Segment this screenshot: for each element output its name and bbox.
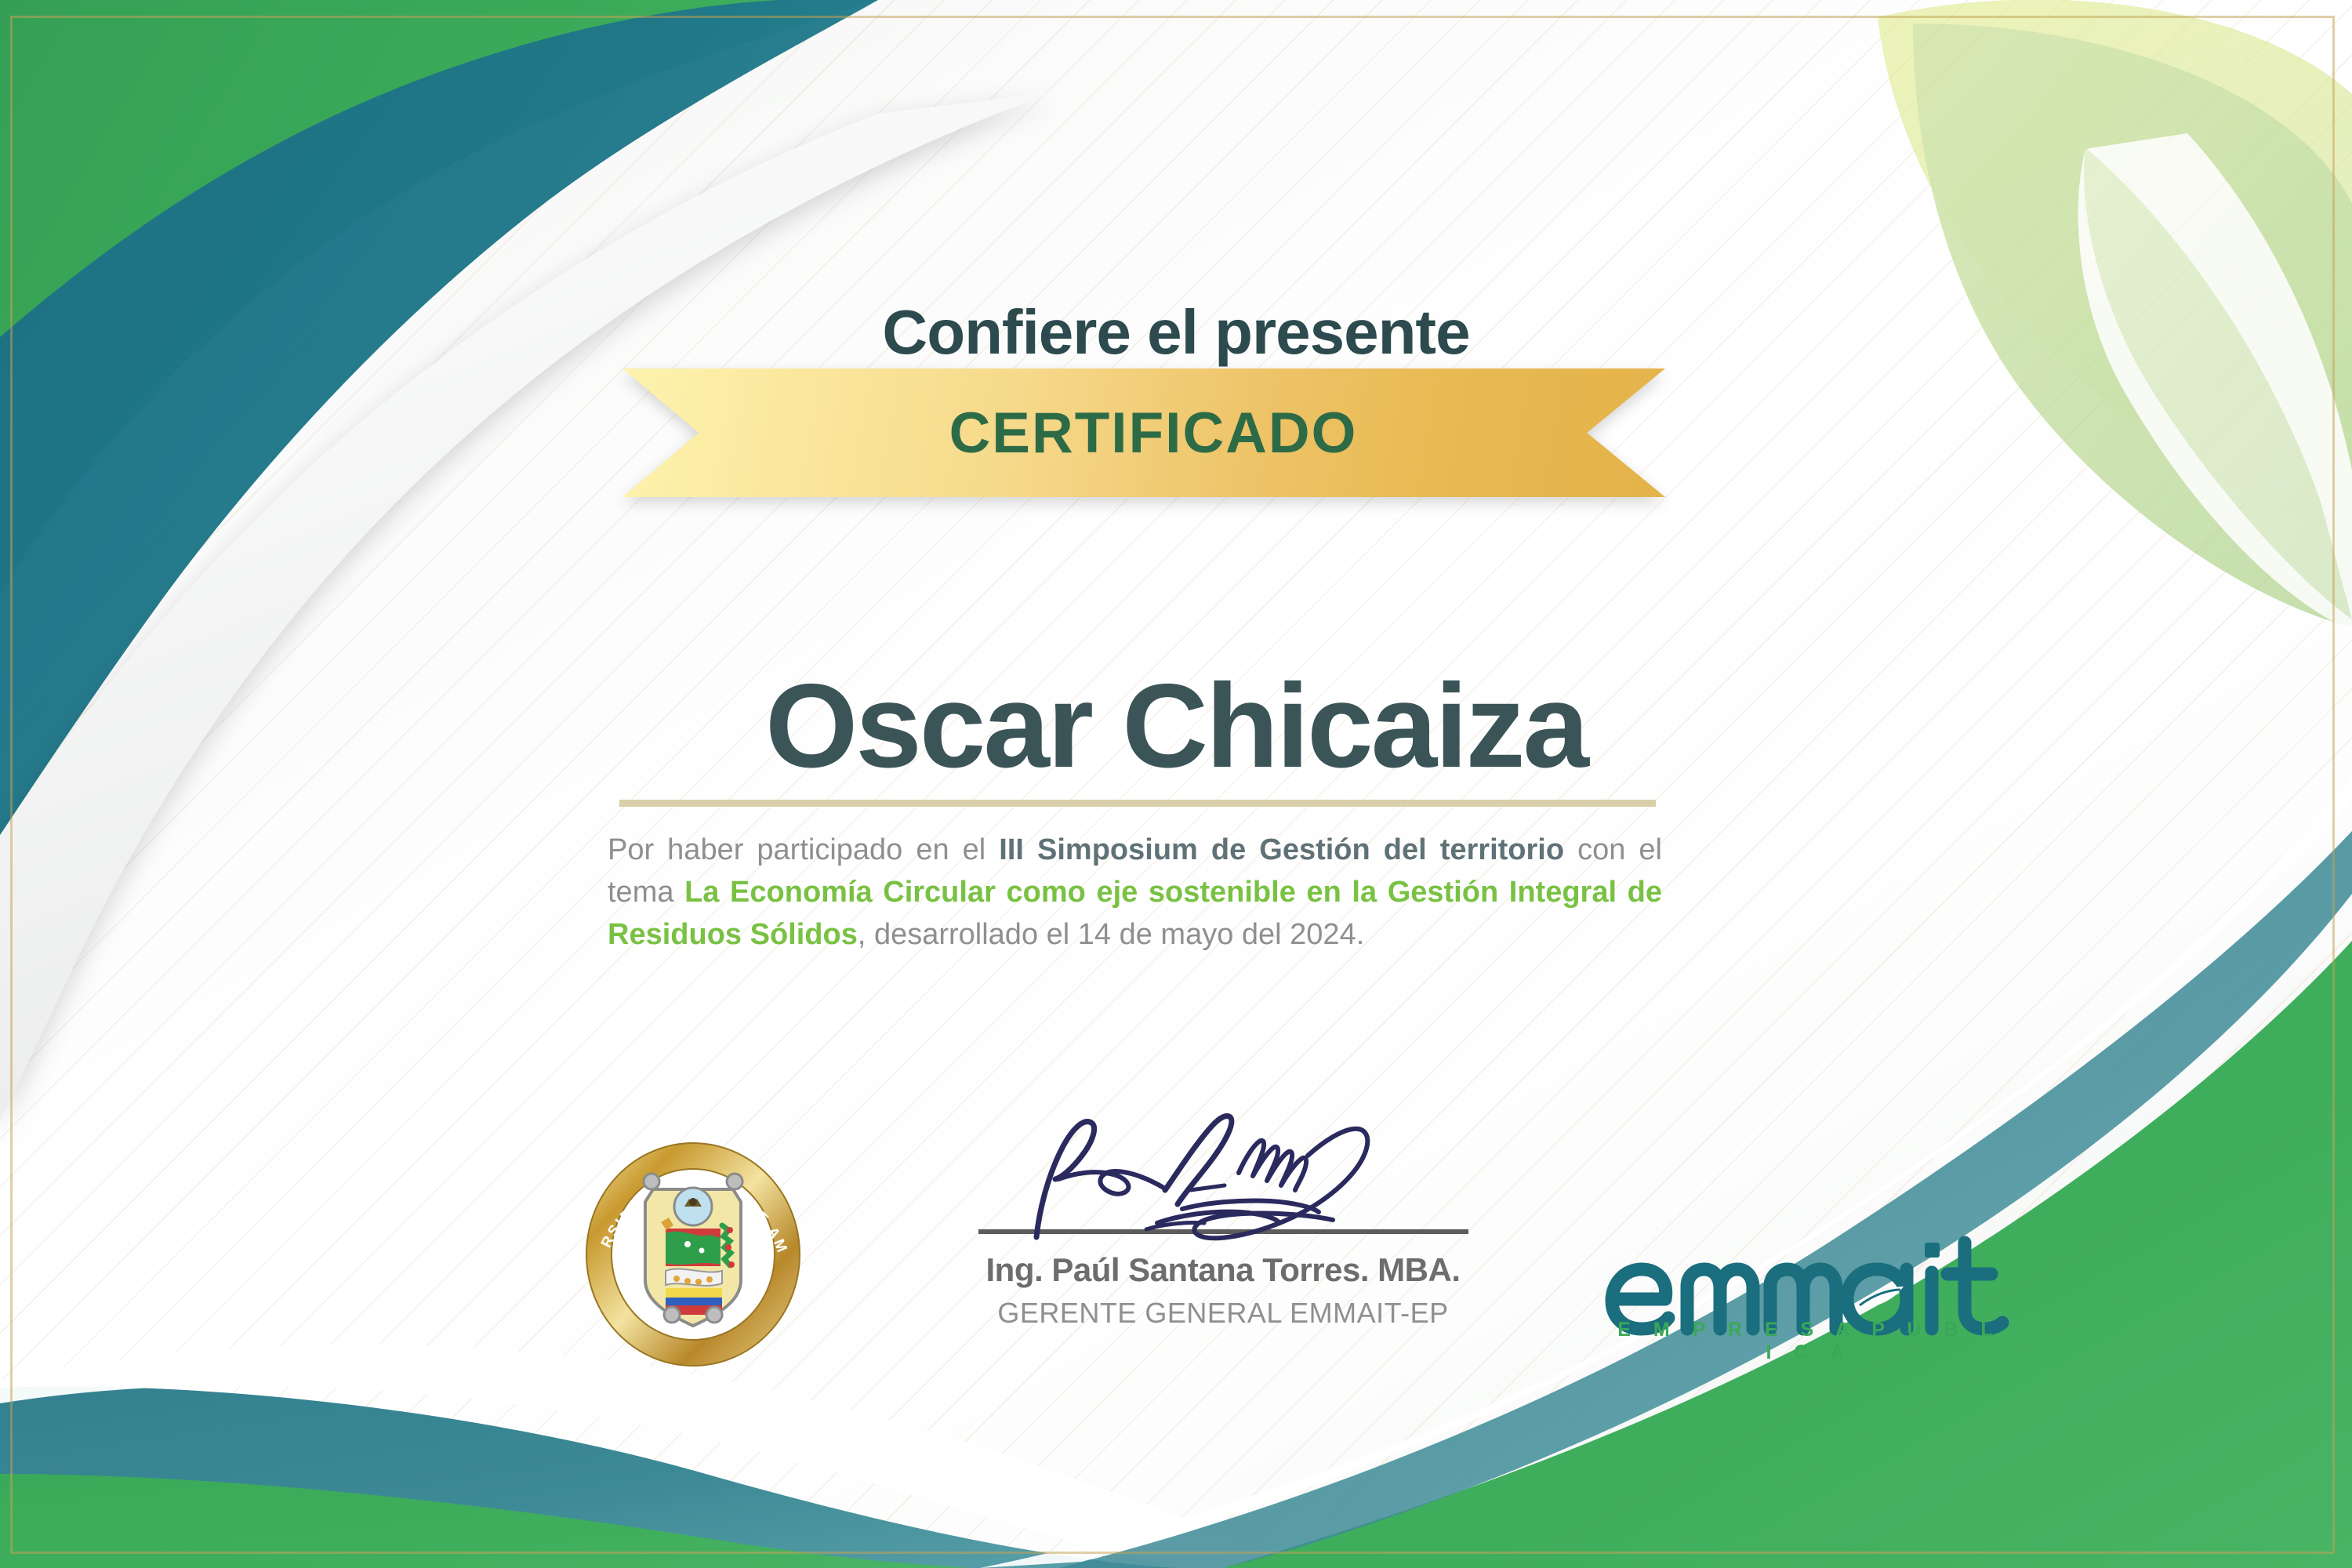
signature-block: Ing. Paúl Santana Torres. MBA. GERENTE G… [972,1098,1474,1330]
certificado-label: CERTIFICADO [622,368,1665,497]
recipient-name-underline [619,800,1656,807]
signature-rule [978,1229,1468,1234]
body-lead: Por haber participado en el [608,833,999,866]
body-event: III Simposium de Gestión del territorio [999,833,1564,866]
emmait-tagline: E M P R E S A P Ú B L I C A [1606,1319,2013,1364]
certificate-canvas: Confiere el presente CERTIFICADO Oscar C… [0,0,2352,1568]
certificate-body: Por haber participado en el III Simposiu… [608,829,1662,956]
signatory-name: Ing. Paúl Santana Torres. MBA. [972,1251,1474,1289]
recipient-name: Oscar Chicaiza [0,666,2352,786]
handwritten-signature [1004,1098,1443,1247]
uta-coat-of-arms [644,1174,742,1326]
signatory-role: GERENTE GENERAL EMMAIT-EP [972,1297,1474,1330]
body-tail: , desarrollado el 14 de mayo del 2024. [858,918,1364,951]
confiere-heading: Confiere el presente [0,296,2352,368]
uta-seal: UNIVERSIDAD TECNICA DE AMBATO UTA [584,1141,802,1368]
